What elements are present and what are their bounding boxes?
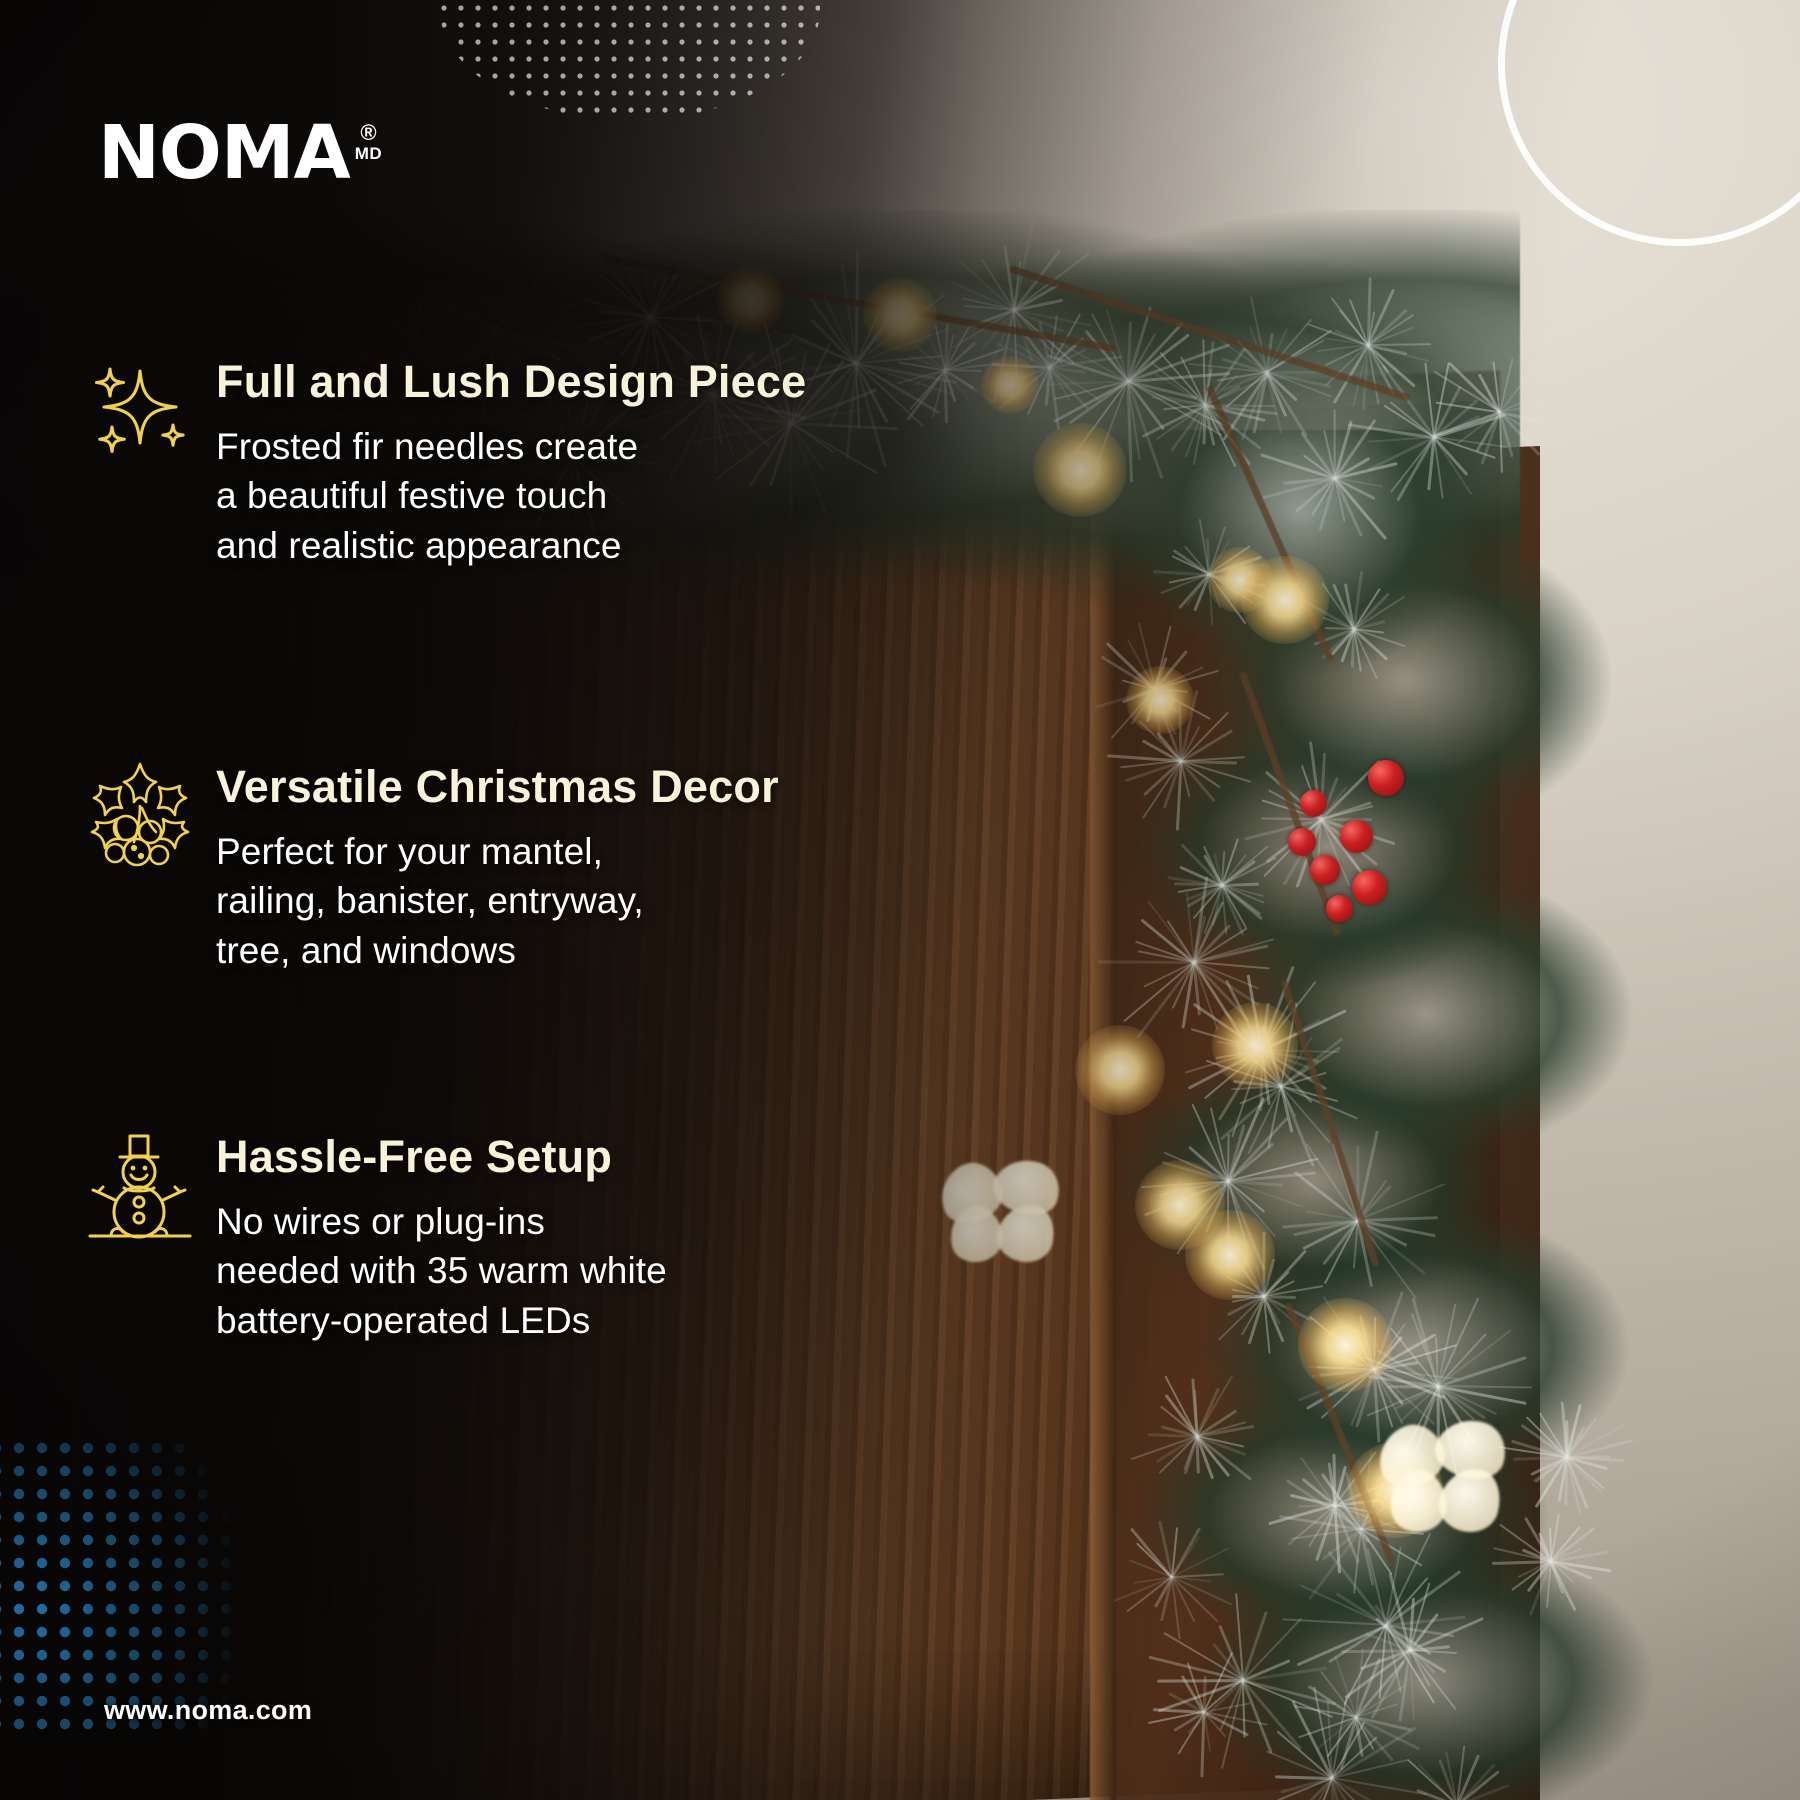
feature-icon-slot — [80, 1130, 200, 1246]
holly-icon — [84, 760, 196, 886]
feature-icon-slot — [80, 760, 200, 886]
white-dot-arc-decoration — [440, 0, 820, 120]
feature-title: Hassle-Free Setup — [216, 1130, 667, 1183]
feature-body-line-1: Perfect for your mantel, — [216, 827, 779, 876]
feature-body-line-2: a beautiful festive touch — [216, 471, 806, 520]
feature-title-line-1: Versatile Christmas Decor — [216, 761, 779, 812]
feature-body-line-3: tree, and windows — [216, 926, 779, 975]
sparkle-icon — [84, 355, 196, 467]
feature-title-line-1: Full and Lush — [216, 356, 511, 407]
feature-body-line-1: Frosted fir needles create — [216, 422, 806, 471]
feature-body-line-3: and realistic appearance — [216, 521, 806, 570]
feature-icon-slot — [80, 355, 200, 467]
md-mark-label: MD — [355, 145, 382, 162]
feature-block-hassle-free-setup: Hassle-Free Setup No wires or plug-ins n… — [80, 1130, 667, 1345]
feature-block-versatile-christmas-decor: Versatile Christmas Decor Perfect for yo… — [80, 760, 779, 975]
feature-title-line-1: Hassle-Free Setup — [216, 1131, 612, 1182]
feature-text: Full and Lush Design Piece Frosted fir n… — [200, 355, 806, 570]
feature-text: Versatile Christmas Decor Perfect for yo… — [200, 760, 779, 975]
snowman-icon — [84, 1130, 196, 1246]
feature-text: Hassle-Free Setup No wires or plug-ins n… — [200, 1130, 667, 1345]
feature-title: Versatile Christmas Decor — [216, 760, 779, 813]
feature-title: Full and Lush Design Piece — [216, 355, 806, 408]
logo-wordmark: NOMA — [98, 118, 350, 188]
feature-body: Perfect for your mantel, railing, banist… — [216, 827, 779, 975]
feature-block-full-and-lush: Full and Lush Design Piece Frosted fir n… — [80, 355, 806, 570]
feature-body: No wires or plug-ins needed with 35 warm… — [216, 1197, 667, 1345]
feature-body-line-2: railing, banister, entryway, — [216, 876, 779, 925]
feature-body-line-2: needed with 35 warm white — [216, 1246, 667, 1295]
feature-body: Frosted fir needles create a beautiful f… — [216, 422, 806, 570]
feature-title-line-2: Design Piece — [524, 356, 807, 407]
noma-logo[interactable]: NOMA ® MD — [98, 118, 382, 188]
feature-body-line-3: battery-operated LEDs — [216, 1296, 667, 1345]
logo-trademark-marks: ® MD — [355, 122, 382, 162]
website-url[interactable]: www.noma.com — [104, 1695, 312, 1726]
registered-trademark-icon: ® — [360, 122, 376, 144]
feature-body-line-1: No wires or plug-ins — [216, 1197, 667, 1246]
infographic-canvas: NOMA ® MD Full and Lush Design Piece Fro… — [0, 0, 1800, 1800]
